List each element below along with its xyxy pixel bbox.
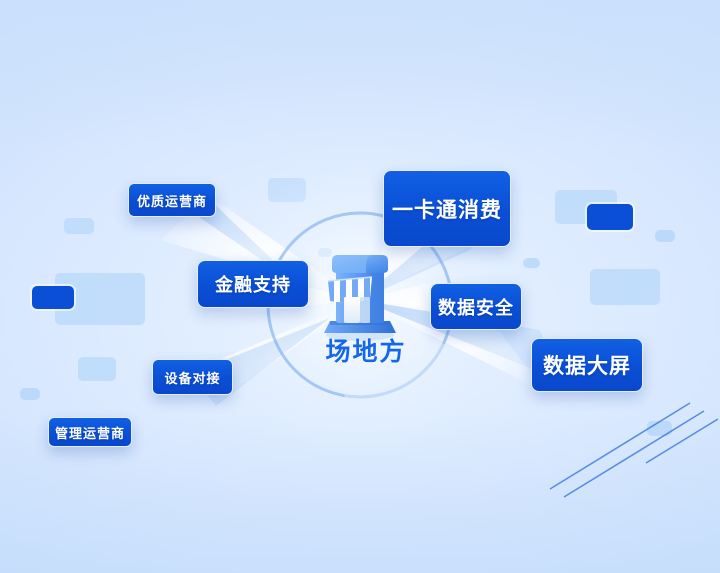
label-quality-operator[interactable]: 优质运营商 [128,183,216,217]
center-label: 场地方 [303,332,429,368]
label-device-docking[interactable]: 设备对接 [152,359,233,395]
label-data-security[interactable]: 数据安全 [430,283,522,330]
infographic-canvas: 场地方 优质运营商金融支持设备对接管理运营商一卡通消费数据安全数据大屏 [0,0,720,573]
accent-lines [540,393,720,503]
label-management-operator[interactable]: 管理运营商 [48,417,132,447]
label-data-dashboard[interactable]: 数据大屏 [531,338,643,392]
accent-line-2 [564,411,704,497]
label-allinone-card-spend[interactable]: 一卡通消费 [383,170,511,247]
label-financial-support[interactable]: 金融支持 [197,260,309,308]
storefront-icon [310,243,410,343]
accent-line-3 [646,419,718,463]
accent-line-1 [550,403,690,489]
